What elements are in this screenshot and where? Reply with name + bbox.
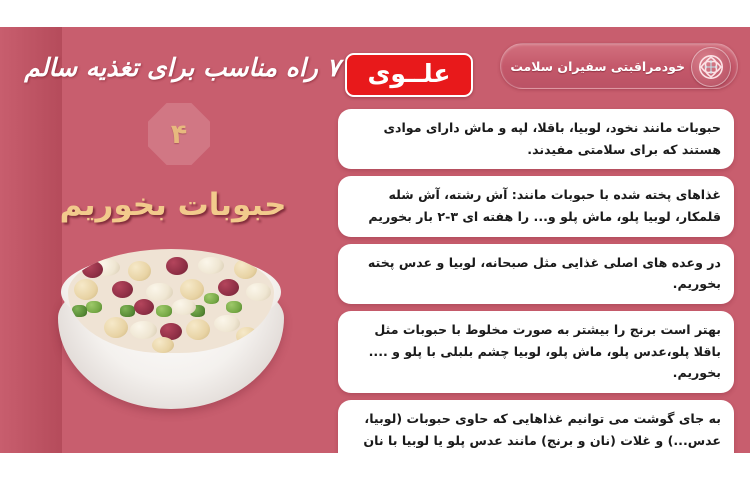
tip-card: بهتر است برنج را بیشتر به صورت مخلوط با … — [338, 311, 734, 393]
left-illustration-column: ۴ حبوبات بخوریم — [8, 99, 338, 451]
tip-card: در وعده های اصلی غذایی مثل صبحانه، لوبیا… — [338, 244, 734, 304]
bottom-white-strip — [0, 453, 750, 480]
infographic-poster: خودمراقبتی سفیران سلامت — [0, 0, 750, 480]
tips-card-list: حبوبات مانند نخود، لوبیا، باقلا، لپه و م… — [338, 109, 734, 453]
step-number-badge: ۴ — [148, 103, 210, 165]
poster-header: خودمراقبتی سفیران سلامت — [0, 27, 750, 105]
bean-salad-contents — [68, 249, 274, 353]
step-number-text: ۴ — [171, 121, 187, 148]
bean-salad-bowl-image — [26, 239, 316, 424]
brand-pill: خودمراقبتی سفیران سلامت — [500, 43, 738, 89]
page-title: ۷ راه مناسب برای تغذیه سالم — [5, 49, 340, 88]
poster-canvas: خودمراقبتی سفیران سلامت — [0, 27, 750, 453]
tip-card: به جای گوشت می توانیم غذاهایی که حاوی حب… — [338, 400, 734, 453]
tip-card: حبوبات مانند نخود، لوبیا، باقلا، لپه و م… — [338, 109, 734, 169]
bowl-graphic — [58, 247, 284, 411]
brand-label: خودمراقبتی سفیران سلامت — [510, 59, 685, 74]
alavi-logo-text: علــوی — [368, 61, 451, 89]
tip-card: غذاهای پخته شده با حبوبات مانند: آش رشته… — [338, 176, 734, 236]
health-ambassadors-emblem-icon — [691, 47, 731, 87]
section-heading: حبوبات بخوریم — [8, 185, 338, 225]
alavi-logo-badge: علــوی — [345, 53, 473, 97]
